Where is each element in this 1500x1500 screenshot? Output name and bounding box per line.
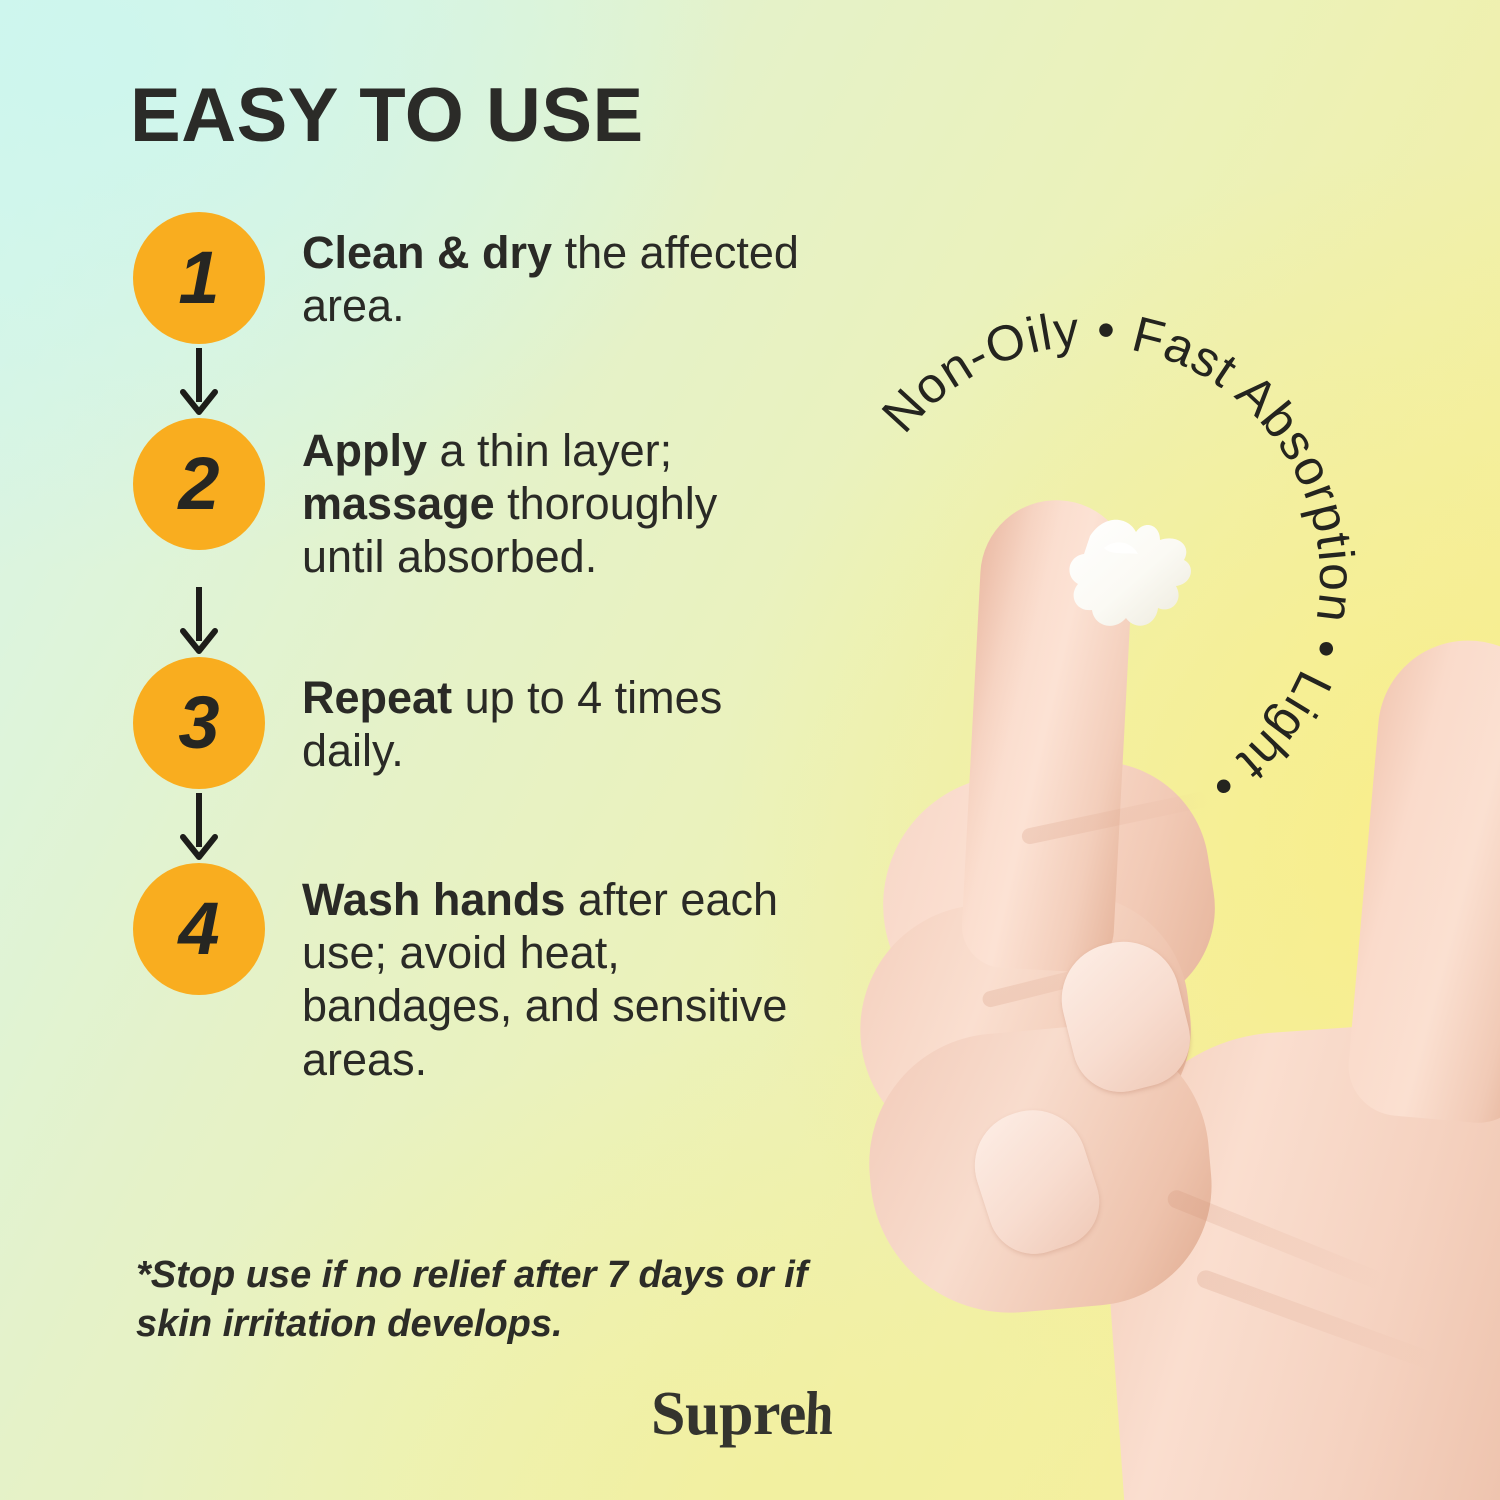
thumb-shape	[1344, 633, 1500, 1127]
step-item-3: 3 Repeat up to 4 times daily.	[133, 657, 833, 789]
step-2-bold: Apply	[302, 425, 427, 476]
step-number-badge-1: 1	[133, 212, 265, 344]
step-item-2: 2 Apply a thin layer; massage thoroughly…	[133, 418, 833, 583]
brand-logo-name: Supre	[651, 1383, 806, 1445]
step-number-badge-2: 2	[133, 418, 265, 550]
hand-photo	[860, 470, 1500, 1500]
step-item-4: 4 Wash hands after each use; avoid heat,…	[133, 863, 833, 1085]
step-4-bold: Wash hands	[302, 874, 565, 925]
footnote-disclaimer: *Stop use if no relief after 7 days or i…	[136, 1251, 836, 1348]
step-number-badge-3: 3	[133, 657, 265, 789]
step-3-bold: Repeat	[302, 672, 452, 723]
steps-list: 1 Clean & dry the affected area. 2 Apply…	[133, 212, 833, 1086]
step-2-rest: a thin layer;	[427, 425, 672, 476]
step-text-4: Wash hands after each use; avoid heat, b…	[302, 863, 812, 1085]
step-item-1: 1 Clean & dry the affected area.	[133, 212, 833, 344]
brand-logo: Supreh	[651, 1383, 836, 1445]
page-title: EASY TO USE	[130, 78, 644, 154]
brand-logo-mark: h	[804, 1383, 835, 1445]
step-1-bold: Clean & dry	[302, 227, 552, 278]
step-2-bold2: massage	[302, 478, 495, 529]
step-connector-arrow-1	[133, 344, 265, 418]
step-connector-arrow-2	[133, 583, 265, 657]
step-text-2: Apply a thin layer; massage thoroughly u…	[302, 418, 812, 583]
step-text-1: Clean & dry the affected area.	[302, 212, 812, 332]
step-text-3: Repeat up to 4 times daily.	[302, 657, 812, 777]
cream-dollop-icon	[1060, 508, 1195, 648]
step-number-badge-4: 4	[133, 863, 265, 995]
step-connector-arrow-3	[133, 789, 265, 863]
